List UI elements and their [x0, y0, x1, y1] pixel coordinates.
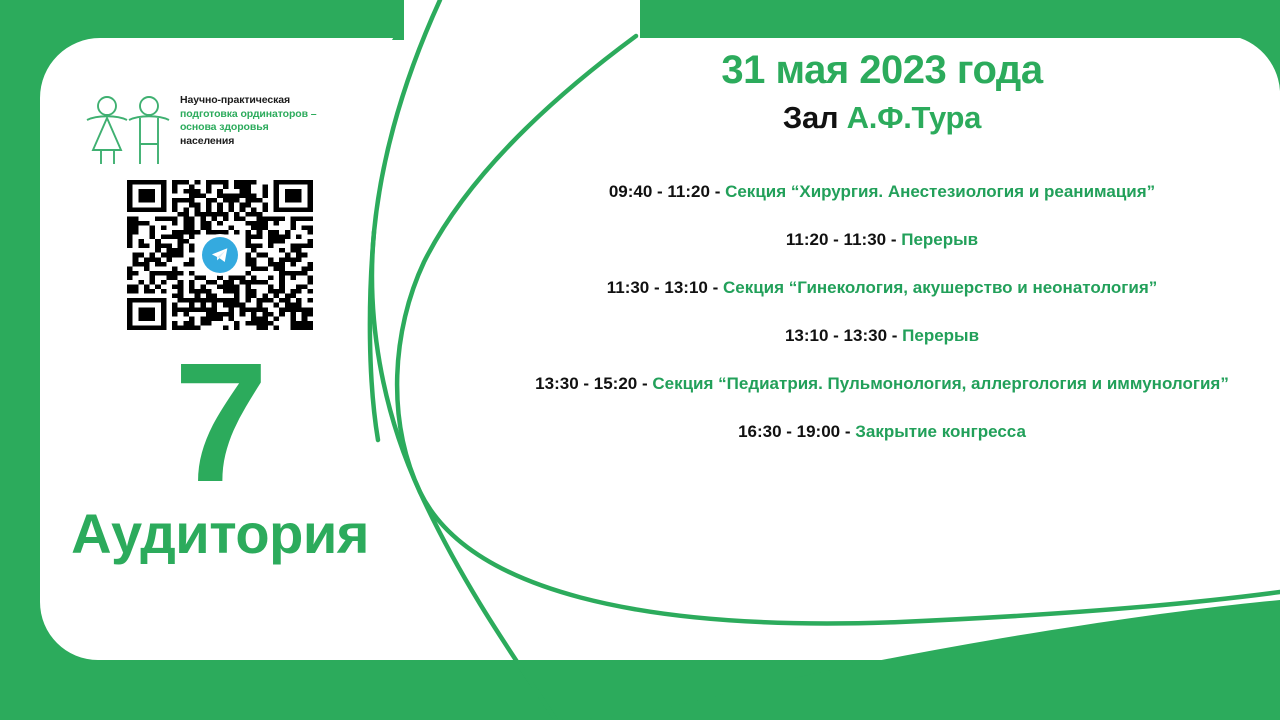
hall-name: А.Ф.Тура: [847, 100, 981, 135]
schedule-title: Закрытие конгресса: [855, 422, 1026, 441]
schedule-time: 11:20 - 11:30: [786, 230, 886, 249]
hall-line: Зал А.Ф.Тура: [520, 98, 1244, 138]
logo-line-2: подготовка ординаторов –: [180, 108, 316, 122]
schedule-separator: -: [886, 230, 901, 249]
logo-line-4: населения: [180, 135, 316, 149]
qr-code[interactable]: [127, 180, 313, 330]
schedule-time: 13:10 - 13:30: [785, 326, 887, 345]
schedule-time: 13:30 - 15:20: [535, 374, 637, 393]
schedule-time: 09:40 - 11:20: [609, 182, 710, 201]
schedule-time: 16:30 - 19:00: [738, 422, 840, 441]
schedule-row: 13:30 - 15:20 - Секция “Педиатрия. Пульм…: [520, 372, 1244, 395]
two-children-figures-icon: [85, 94, 171, 173]
schedule-title: Секция “Хирургия. Анестезиология и реани…: [725, 182, 1155, 201]
logo-tagline: Научно-практическая подготовка ординатор…: [180, 94, 316, 148]
poster-slide: Научно-практическая подготовка ординатор…: [0, 0, 1280, 720]
schedule-title: Секция “Гинекология, акушерство и неонат…: [723, 278, 1157, 297]
schedule-row: 16:30 - 19:00 - Закрытие конгресса: [520, 420, 1244, 443]
schedule-separator: -: [637, 374, 652, 393]
room-label: Аудитория: [40, 504, 400, 564]
left-column: Научно-практическая подготовка ординатор…: [40, 80, 400, 564]
schedule-title: Перерыв: [901, 230, 978, 249]
logo-line-1: Научно-практическая: [180, 94, 316, 108]
schedule-title: Перерыв: [902, 326, 979, 345]
right-column: 31 мая 2023 года Зал А.Ф.Тура 09:40 - 11…: [520, 46, 1244, 468]
schedule-separator: -: [710, 182, 725, 201]
schedule-time: 11:30 - 13:10: [607, 278, 708, 297]
room-number: 7: [40, 348, 400, 498]
schedule-separator: -: [840, 422, 855, 441]
telegram-icon: [202, 237, 238, 273]
schedule-row: 13:10 - 13:30 - Перерыв: [520, 324, 1244, 347]
schedule-separator: -: [708, 278, 723, 297]
hall-prefix: Зал: [783, 100, 838, 135]
schedule-separator: -: [887, 326, 902, 345]
schedule-row: 11:30 - 13:10 - Секция “Гинекология, аку…: [520, 276, 1244, 299]
schedule-row: 09:40 - 11:20 - Секция “Хирургия. Анесте…: [520, 180, 1244, 203]
event-date: 31 мая 2023 года: [520, 46, 1244, 94]
schedule-title: Секция “Педиатрия. Пульмонология, аллерг…: [652, 374, 1228, 393]
organization-logo: Научно-практическая подготовка ординатор…: [85, 80, 400, 172]
logo-line-3: основа здоровья: [180, 121, 316, 135]
schedule-list: 09:40 - 11:20 - Секция “Хирургия. Анесте…: [520, 180, 1244, 443]
schedule-row: 11:20 - 11:30 - Перерыв: [520, 228, 1244, 251]
